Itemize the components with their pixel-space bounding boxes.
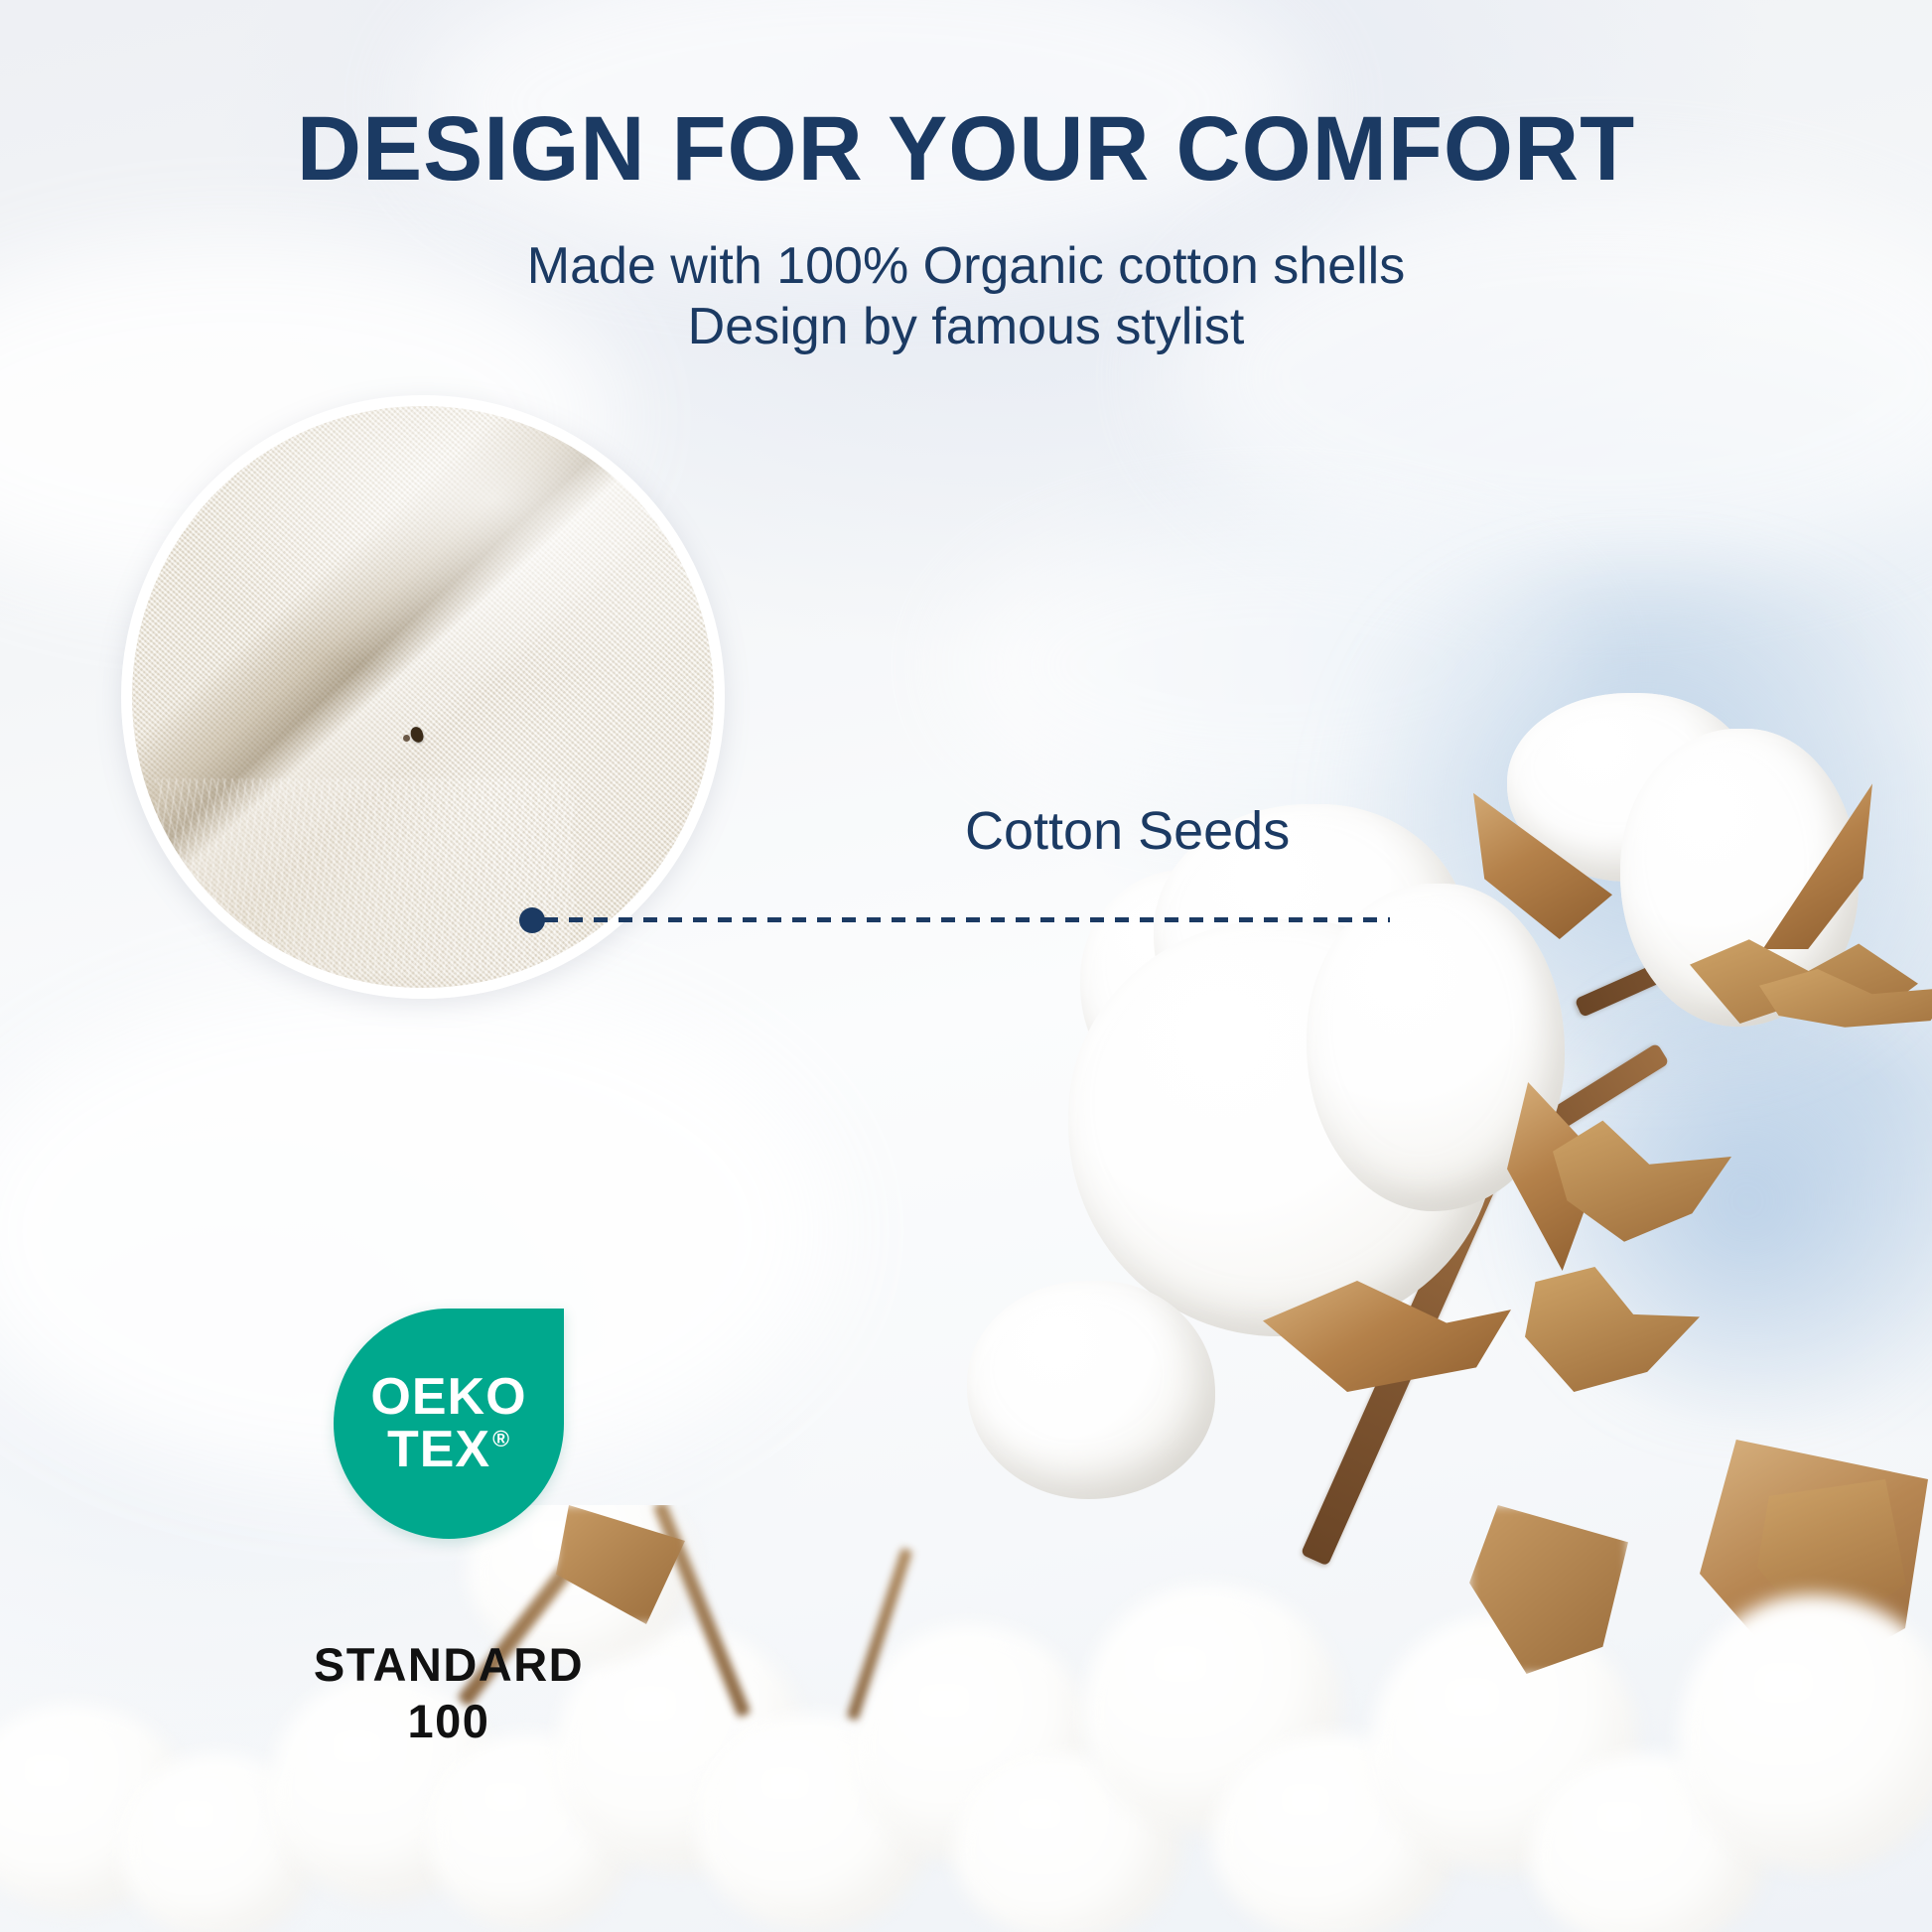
oeko-tex-badge-line-1: OEKO [370,1371,526,1424]
cotton-seed-speck [403,735,410,742]
fabric-closeup-circle [121,395,725,999]
oeko-tex-badge-line-2: TEX ® [387,1424,510,1476]
oeko-tex-badge-tex: TEX [387,1424,490,1476]
callout-anchor-dot [519,907,545,933]
fabric-fiber-fuzz [155,778,574,976]
callout-label-cotton-seeds: Cotton Seeds [965,800,1290,862]
oeko-tex-badge: OEKO TEX ® [334,1309,564,1539]
infographic-canvas: DESIGN FOR YOUR COMFORT Made with 100% O… [0,0,1932,1932]
subtitle-block: Made with 100% Organic cotton shells Des… [0,236,1932,357]
standard-label: STANDARD [266,1636,631,1693]
oeko-tex-standard-caption: STANDARD 100 [266,1636,631,1750]
page-title: DESIGN FOR YOUR COMFORT [19,103,1912,195]
subtitle-line-1: Made with 100% Organic cotton shells [0,236,1932,297]
callout-dashed-line [544,917,1390,922]
standard-number: 100 [266,1693,631,1749]
subtitle-line-2: Design by famous stylist [0,297,1932,357]
registered-trademark-icon: ® [492,1428,510,1450]
